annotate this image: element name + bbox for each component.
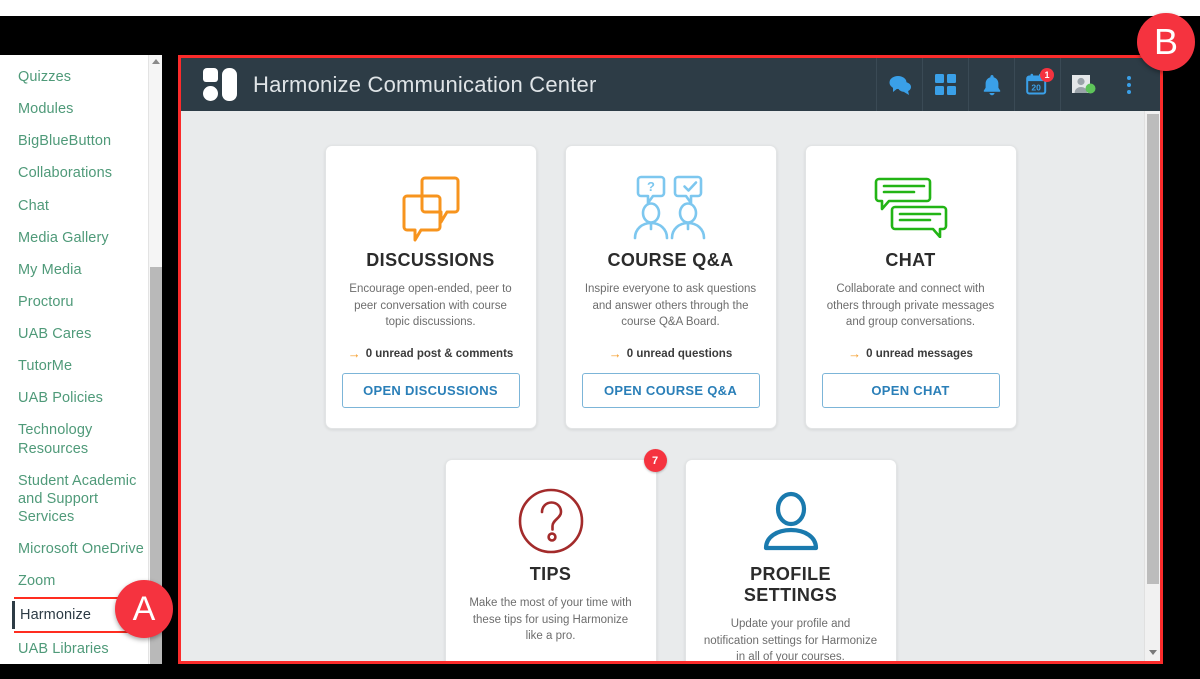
sidebar-item-collaborations[interactable]: Collaborations <box>0 157 160 189</box>
sidebar-item-my-media[interactable]: My Media <box>0 254 160 286</box>
page-title: Harmonize Communication Center <box>253 72 596 98</box>
bottom-black-band <box>0 664 1200 679</box>
card-description: Make the most of your time with these ti… <box>462 595 640 645</box>
arrow-right-icon: → <box>348 347 361 360</box>
card-course-qa[interactable]: ? COURSE Q&A Inspire everyone to ask que… <box>565 145 777 429</box>
right-black-band <box>1163 16 1200 664</box>
harmonize-iframe: Harmonize Communication Center <box>178 55 1163 664</box>
card-title: DISCUSSIONS <box>342 250 520 271</box>
question-circle-red-icon <box>462 482 640 560</box>
sidebar-item-tutorme[interactable]: TutorMe <box>0 350 160 382</box>
card-unread-status: → 0 unread messages <box>822 347 1000 360</box>
sidebar-item-uab-libraries[interactable]: UAB Libraries <box>0 633 160 664</box>
sidebar-item-modules[interactable]: Modules <box>0 93 160 125</box>
card-tips[interactable]: 7 TIPS Make the most of your time with t… <box>445 459 657 661</box>
bell-icon[interactable] <box>968 58 1014 111</box>
sidebar-item-uab-policies[interactable]: UAB Policies <box>0 382 160 414</box>
kebab-menu-icon[interactable] <box>1106 58 1152 111</box>
harmonize-scrollbar[interactable] <box>1144 111 1160 661</box>
scroll-up-arrow-icon[interactable] <box>152 59 160 64</box>
course-nav-list: Quizzes Modules BigBlueButton Collaborat… <box>0 55 160 664</box>
card-unread-text: 0 unread messages <box>866 348 973 360</box>
arrow-right-icon: → <box>848 347 861 360</box>
cards-row-secondary: 7 TIPS Make the most of your time with t… <box>181 429 1160 661</box>
card-title: PROFILE SETTINGS <box>702 564 880 606</box>
annotation-b: B <box>1137 13 1195 71</box>
cards-row-primary: DISCUSSIONS Encourage open-ended, peer t… <box>181 111 1160 429</box>
card-discussions[interactable]: DISCUSSIONS Encourage open-ended, peer t… <box>325 145 537 429</box>
card-description: Inspire everyone to ask questions and an… <box>582 281 760 331</box>
chat-bubbles-green-icon <box>822 168 1000 246</box>
open-course-qa-button[interactable]: OPEN COURSE Q&A <box>582 373 760 408</box>
card-unread-status: → 0 unread questions <box>582 347 760 360</box>
sidebar-item-student-academic-and-support-services[interactable]: Student Academic and Support Services <box>0 465 160 533</box>
tips-badge: 7 <box>644 449 667 472</box>
sidebar-item-bigbluebutton[interactable]: BigBlueButton <box>0 125 160 157</box>
arrow-right-icon: → <box>609 347 622 360</box>
speech-bubbles-orange-icon <box>342 168 520 246</box>
calendar-badge: 1 <box>1040 68 1054 82</box>
two-people-question-check-icon: ? <box>582 168 760 246</box>
course-navigation: Quizzes Modules BigBlueButton Collaborat… <box>0 55 160 664</box>
annotation-a: A <box>115 580 173 638</box>
svg-text:20: 20 <box>1031 83 1041 93</box>
sidebar-item-proctoru[interactable]: Proctoru <box>0 286 160 318</box>
calendar-icon[interactable]: 20 1 <box>1014 58 1060 111</box>
screenshot-root: Quizzes Modules BigBlueButton Collaborat… <box>0 0 1200 679</box>
scrollbar-thumb[interactable] <box>1147 114 1159 584</box>
avatar-status-icon[interactable] <box>1060 58 1106 111</box>
card-description: Update your profile and notification set… <box>702 616 880 661</box>
person-blue-icon <box>702 482 880 560</box>
card-description: Collaborate and connect with others thro… <box>822 281 1000 331</box>
card-unread-text: 0 unread post & comments <box>366 348 514 360</box>
card-profile-settings[interactable]: PROFILE SETTINGS Update your profile and… <box>685 459 897 661</box>
open-chat-button[interactable]: OPEN CHAT <box>822 373 1000 408</box>
scroll-down-arrow-icon[interactable] <box>1149 650 1157 655</box>
sidebar-item-media-gallery[interactable]: Media Gallery <box>0 222 160 254</box>
card-chat[interactable]: CHAT Collaborate and connect with others… <box>805 145 1017 429</box>
card-description: Encourage open-ended, peer to peer conve… <box>342 281 520 331</box>
card-title: CHAT <box>822 250 1000 271</box>
course-nav-scrollbar[interactable] <box>148 55 162 664</box>
harmonize-content: DISCUSSIONS Encourage open-ended, peer t… <box>181 111 1160 661</box>
sidebar-item-uab-cares[interactable]: UAB Cares <box>0 318 160 350</box>
open-discussions-button[interactable]: OPEN DISCUSSIONS <box>342 373 520 408</box>
top-black-band <box>0 16 1200 55</box>
card-title: TIPS <box>462 564 640 585</box>
sidebar-item-chat[interactable]: Chat <box>0 190 160 222</box>
harmonize-header: Harmonize Communication Center <box>181 58 1160 111</box>
card-unread-status: → 0 unread post & comments <box>342 347 520 360</box>
chat-bubbles-icon[interactable] <box>876 58 922 111</box>
svg-text:?: ? <box>647 179 655 194</box>
grid-icon[interactable] <box>922 58 968 111</box>
sidebar-item-technology-resources[interactable]: Technology Resources <box>0 414 160 464</box>
harmonize-logo-icon <box>203 68 239 102</box>
top-white-strip <box>0 0 1200 16</box>
card-unread-text: 0 unread questions <box>627 348 732 360</box>
sidebar-item-microsoft-onedrive[interactable]: Microsoft OneDrive <box>0 533 160 565</box>
card-title: COURSE Q&A <box>582 250 760 271</box>
sidebar-item-quizzes[interactable]: Quizzes <box>0 61 160 93</box>
harmonize-toolbar: 20 1 <box>876 58 1152 111</box>
